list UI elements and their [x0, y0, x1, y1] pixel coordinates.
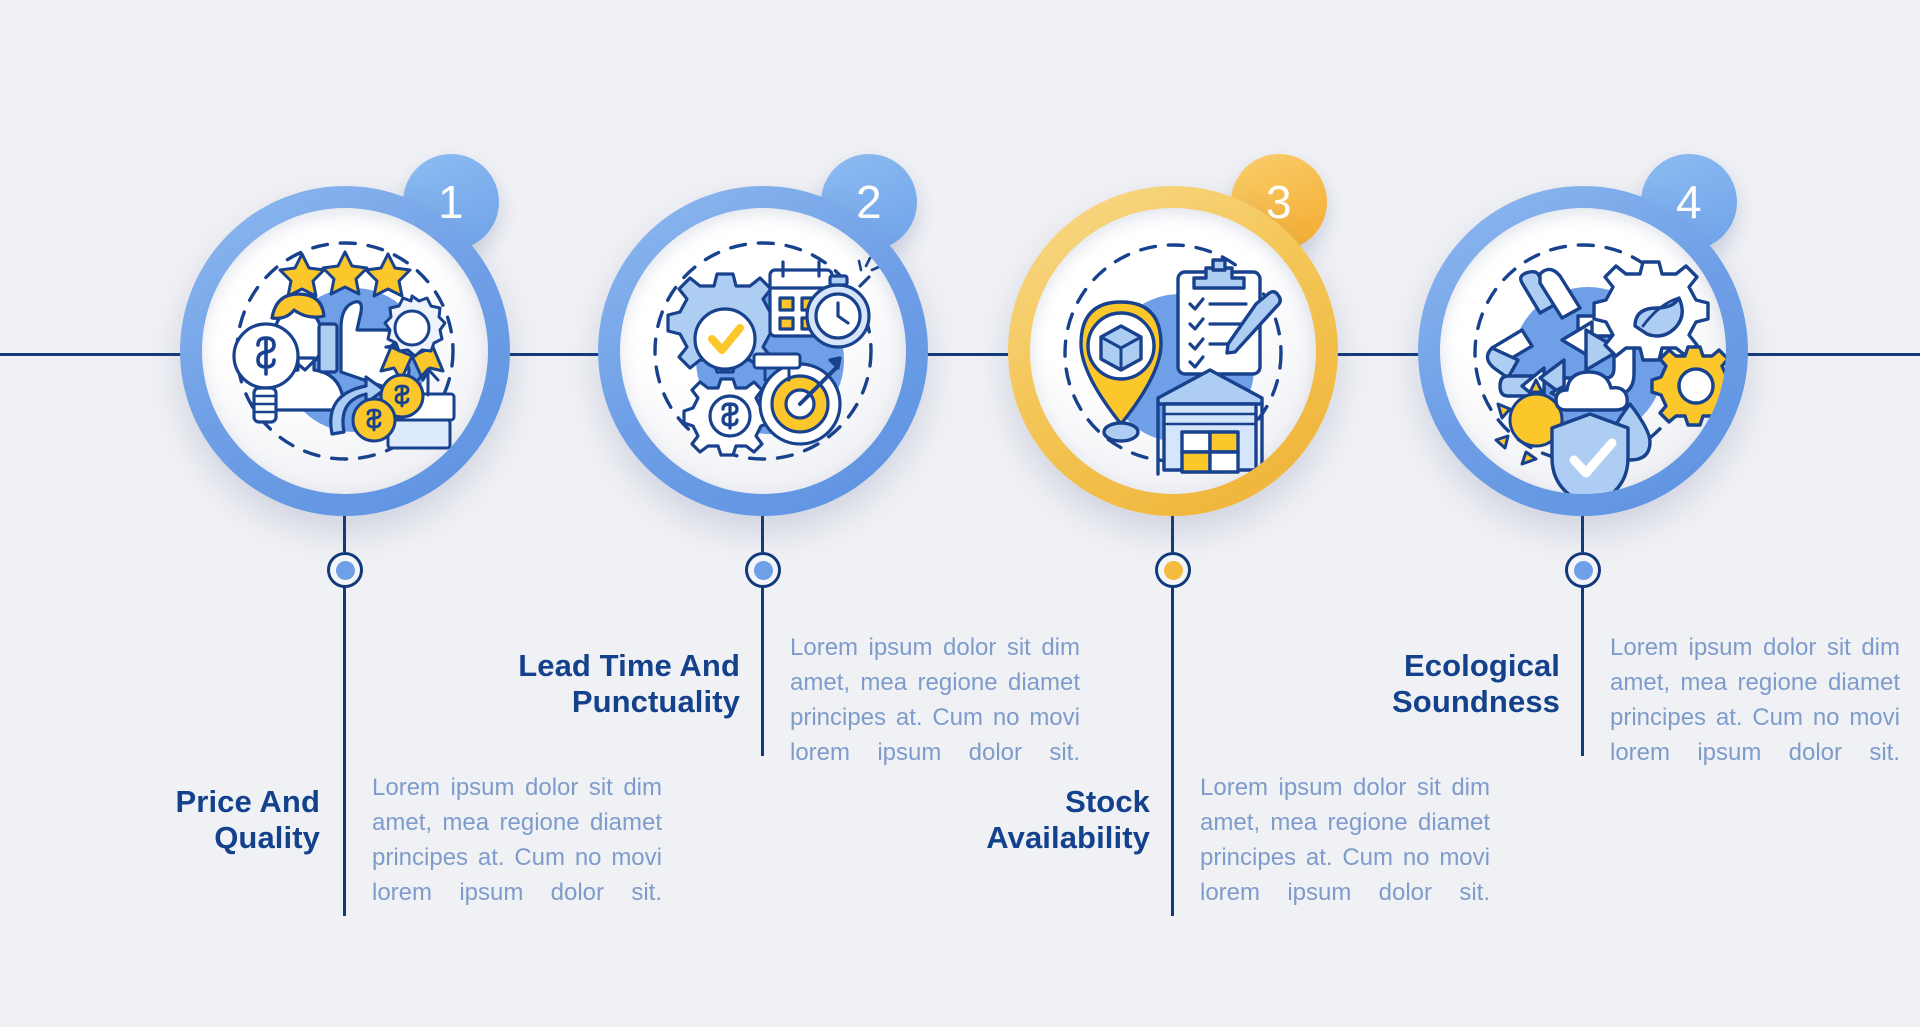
location-pin-checklist-warehouse-icon	[1030, 208, 1316, 494]
step-body-4: Lorem ipsum dolor sit dim amet, mea regi…	[1610, 630, 1900, 770]
step-circle-2[interactable]	[598, 186, 928, 516]
marker-core-2	[754, 561, 773, 580]
step-title-2-line2: Punctuality	[440, 684, 740, 720]
step-circle-1[interactable]	[180, 186, 510, 516]
gear-calendar-timer-target-icon	[620, 208, 906, 494]
stem-2-lower	[761, 586, 764, 756]
recycle-eco-gear-shield-icon	[1440, 208, 1726, 494]
step-title-3: Stock Availability	[860, 784, 1150, 856]
marker-dot-1[interactable]	[327, 552, 363, 588]
marker-dot-2[interactable]	[745, 552, 781, 588]
step-title-4-line2: Soundness	[1270, 684, 1560, 720]
marker-core-1	[336, 561, 355, 580]
step-title-1: Price And Quality	[30, 784, 320, 856]
step-body-3: Lorem ipsum dolor sit dim amet, mea regi…	[1200, 770, 1490, 910]
stem-3-lower	[1171, 586, 1174, 916]
step-title-4-line1: Ecological	[1270, 648, 1560, 684]
step-title-3-line2: Availability	[860, 820, 1150, 856]
marker-dot-4[interactable]	[1565, 552, 1601, 588]
step-icon-area-4	[1440, 208, 1726, 494]
step-body-1: Lorem ipsum dolor sit dim amet, mea regi…	[372, 770, 662, 910]
stem-1-lower	[343, 586, 346, 916]
marker-core-3	[1164, 561, 1183, 580]
step-title-2: Lead Time And Punctuality	[440, 648, 740, 720]
marker-dot-3[interactable]	[1155, 552, 1191, 588]
step-title-4: Ecological Soundness	[1270, 648, 1560, 720]
step-title-1-line1: Price And	[30, 784, 320, 820]
step-title-1-line2: Quality	[30, 820, 320, 856]
stem-4-lower	[1581, 586, 1584, 756]
step-title-3-line1: Stock	[860, 784, 1150, 820]
step-icon-area-3	[1030, 208, 1316, 494]
step-body-2: Lorem ipsum dolor sit dim amet, mea regi…	[790, 630, 1080, 770]
step-icon-area-2	[620, 208, 906, 494]
marker-core-4	[1574, 561, 1593, 580]
step-title-2-line1: Lead Time And	[440, 648, 740, 684]
infographic-canvas: 1	[0, 0, 1920, 1027]
step-icon-area-1	[202, 208, 488, 494]
customer-rating-money-icon	[202, 208, 488, 494]
step-circle-4[interactable]	[1418, 186, 1748, 516]
step-circle-3[interactable]	[1008, 186, 1338, 516]
